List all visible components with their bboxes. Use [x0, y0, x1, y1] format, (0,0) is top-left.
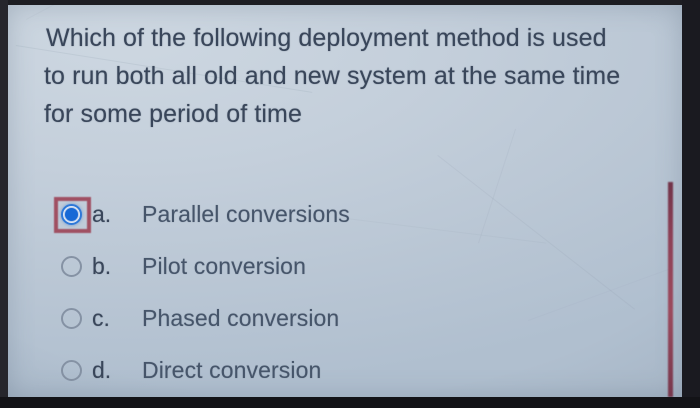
option-letter-d: d.: [92, 357, 142, 384]
question-screen: Which of the following deployment method…: [8, 5, 682, 397]
radio-wrap-b: [52, 246, 92, 286]
question-line-3: for some period of time: [38, 95, 673, 133]
option-row-b[interactable]: b. Pilot conversion: [52, 240, 612, 292]
answer-options-list: a. Parallel conversions b. Pilot convers…: [52, 188, 612, 396]
right-margin-mark: [668, 182, 673, 397]
bezel-edge-right: [682, 0, 700, 408]
radio-unchecked-icon[interactable]: [61, 256, 82, 277]
question-line-2: to run both all old and new system at th…: [38, 57, 673, 95]
question-text: Which of the following deployment method…: [38, 19, 673, 133]
bezel-edge-left: [0, 0, 8, 408]
option-letter-a: a.: [92, 201, 142, 228]
radio-wrap-d: [52, 350, 92, 390]
option-row-c[interactable]: c. Phased conversion: [52, 292, 612, 344]
option-label-b: Pilot conversion: [142, 253, 306, 280]
selection-highlight-box: [52, 194, 92, 234]
option-letter-c: c.: [92, 305, 142, 332]
screenshot-root: Which of the following deployment method…: [0, 0, 700, 408]
option-label-a: Parallel conversions: [142, 201, 350, 228]
option-row-a[interactable]: a. Parallel conversions: [52, 188, 612, 240]
radio-wrap-c: [52, 298, 92, 338]
radio-unchecked-icon[interactable]: [61, 308, 82, 329]
option-label-d: Direct conversion: [142, 357, 321, 384]
bezel-edge-bottom: [0, 397, 700, 408]
radio-unchecked-icon[interactable]: [61, 360, 82, 381]
surface-scratch: [26, 5, 106, 20]
question-line-1: Which of the following deployment method…: [38, 19, 673, 57]
option-row-d[interactable]: d. Direct conversion: [52, 344, 612, 396]
radio-checked-icon[interactable]: [61, 204, 82, 225]
option-label-c: Phased conversion: [142, 305, 339, 332]
option-letter-b: b.: [92, 253, 142, 280]
